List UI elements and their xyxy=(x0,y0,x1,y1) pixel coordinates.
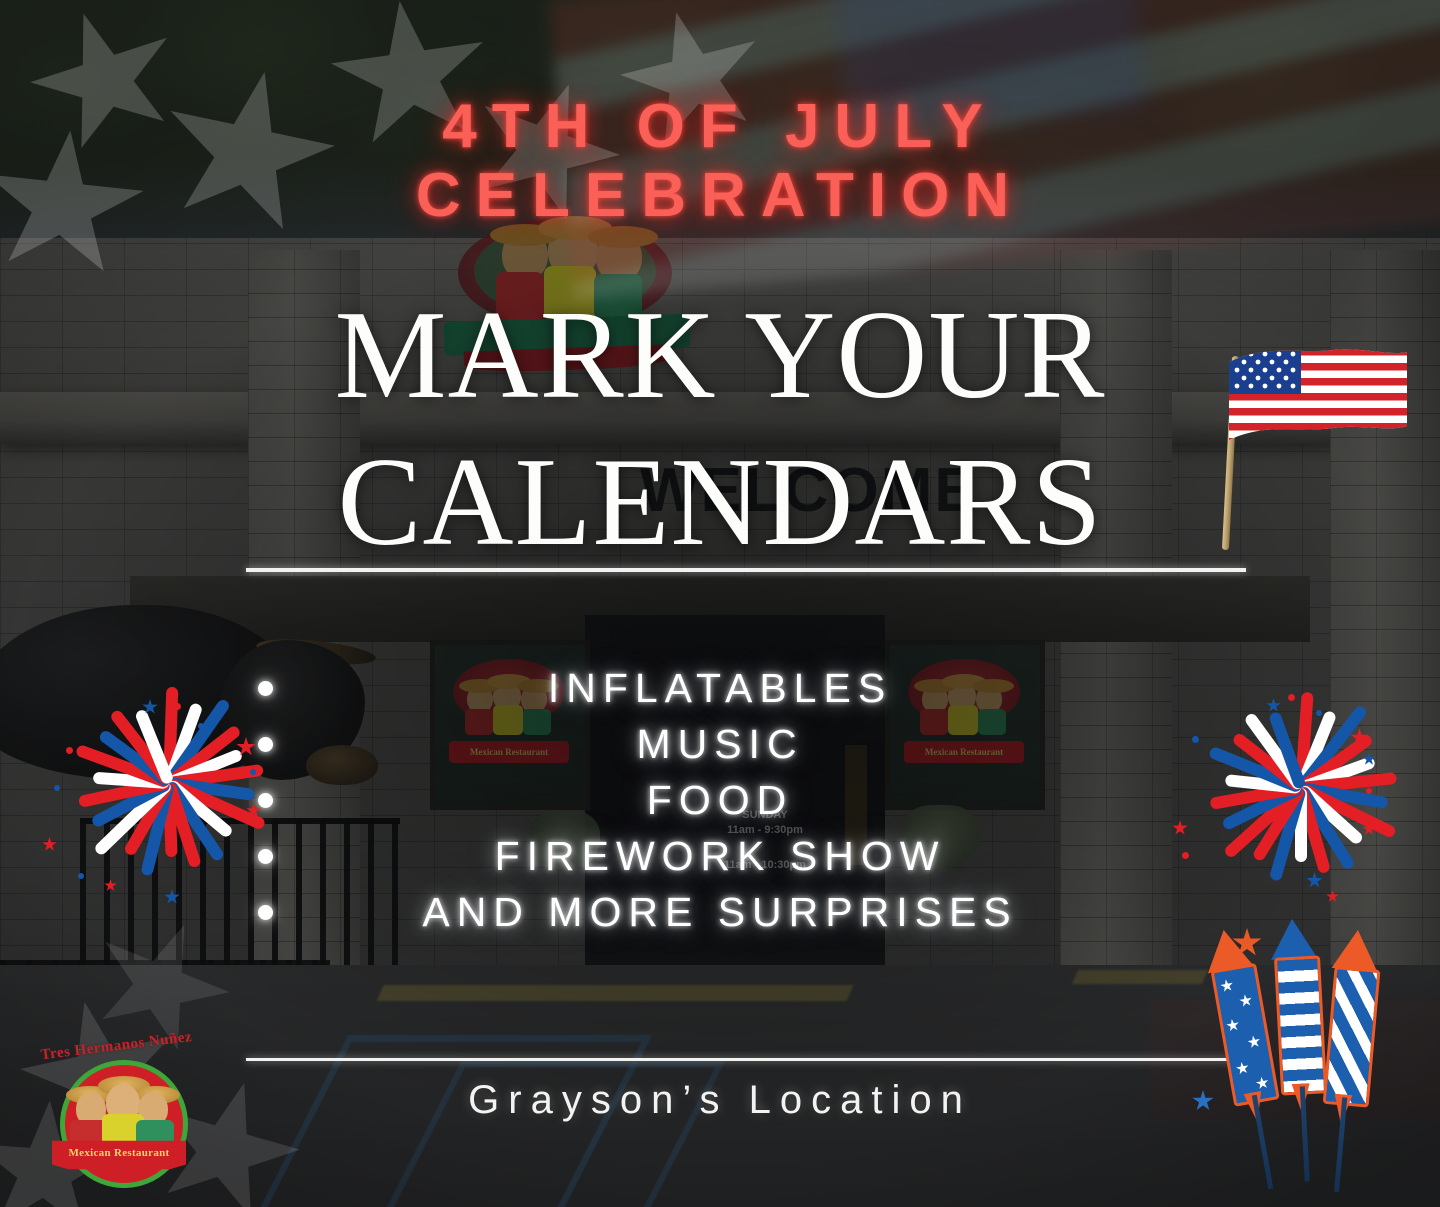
event-headline: 4TH OF JULY CELEBRATION xyxy=(0,92,1440,231)
star-icon xyxy=(104,879,117,892)
star-icon xyxy=(1306,872,1323,889)
feature-label: AND MORE SURPRISES xyxy=(422,889,1017,935)
divider-bottom xyxy=(246,1058,1246,1061)
star-icon xyxy=(42,837,57,852)
firework-burst-icon-left xyxy=(38,665,288,900)
star-icon xyxy=(1326,890,1339,903)
logo-tagline: Mexican Restaurant xyxy=(52,1138,186,1172)
feature-label: MUSIC xyxy=(636,721,803,767)
flag-svg xyxy=(1229,348,1409,468)
divider-top xyxy=(246,568,1246,572)
feature-label: INFLATABLES xyxy=(548,665,892,711)
yellow-curb-2 xyxy=(1072,970,1208,984)
headline-line-1: 4TH OF JULY xyxy=(442,92,997,161)
yellow-curb xyxy=(376,985,853,1001)
restaurant-logo: Tres Hermanos Nuñez Mexican Restaurant xyxy=(38,1034,200,1194)
feature-label: FIREWORK SHOW xyxy=(495,833,946,879)
star-icon xyxy=(1266,698,1281,713)
firework-burst-icon-right xyxy=(1170,670,1420,905)
july-4th-celebration-poster: WELCOME SUNDAY 11am - 9:30pm 11am - 10:3… xyxy=(0,0,1440,1207)
title-line-1: MARK YOUR xyxy=(335,286,1106,425)
bottle-rockets-icon xyxy=(1195,920,1420,1185)
us-flag-icon xyxy=(1215,338,1395,550)
bullet-icon xyxy=(258,905,273,920)
feature-label: FOOD xyxy=(647,777,793,823)
star-icon xyxy=(1172,820,1188,836)
headline-line-2: CELEBRATION xyxy=(0,161,1440,230)
